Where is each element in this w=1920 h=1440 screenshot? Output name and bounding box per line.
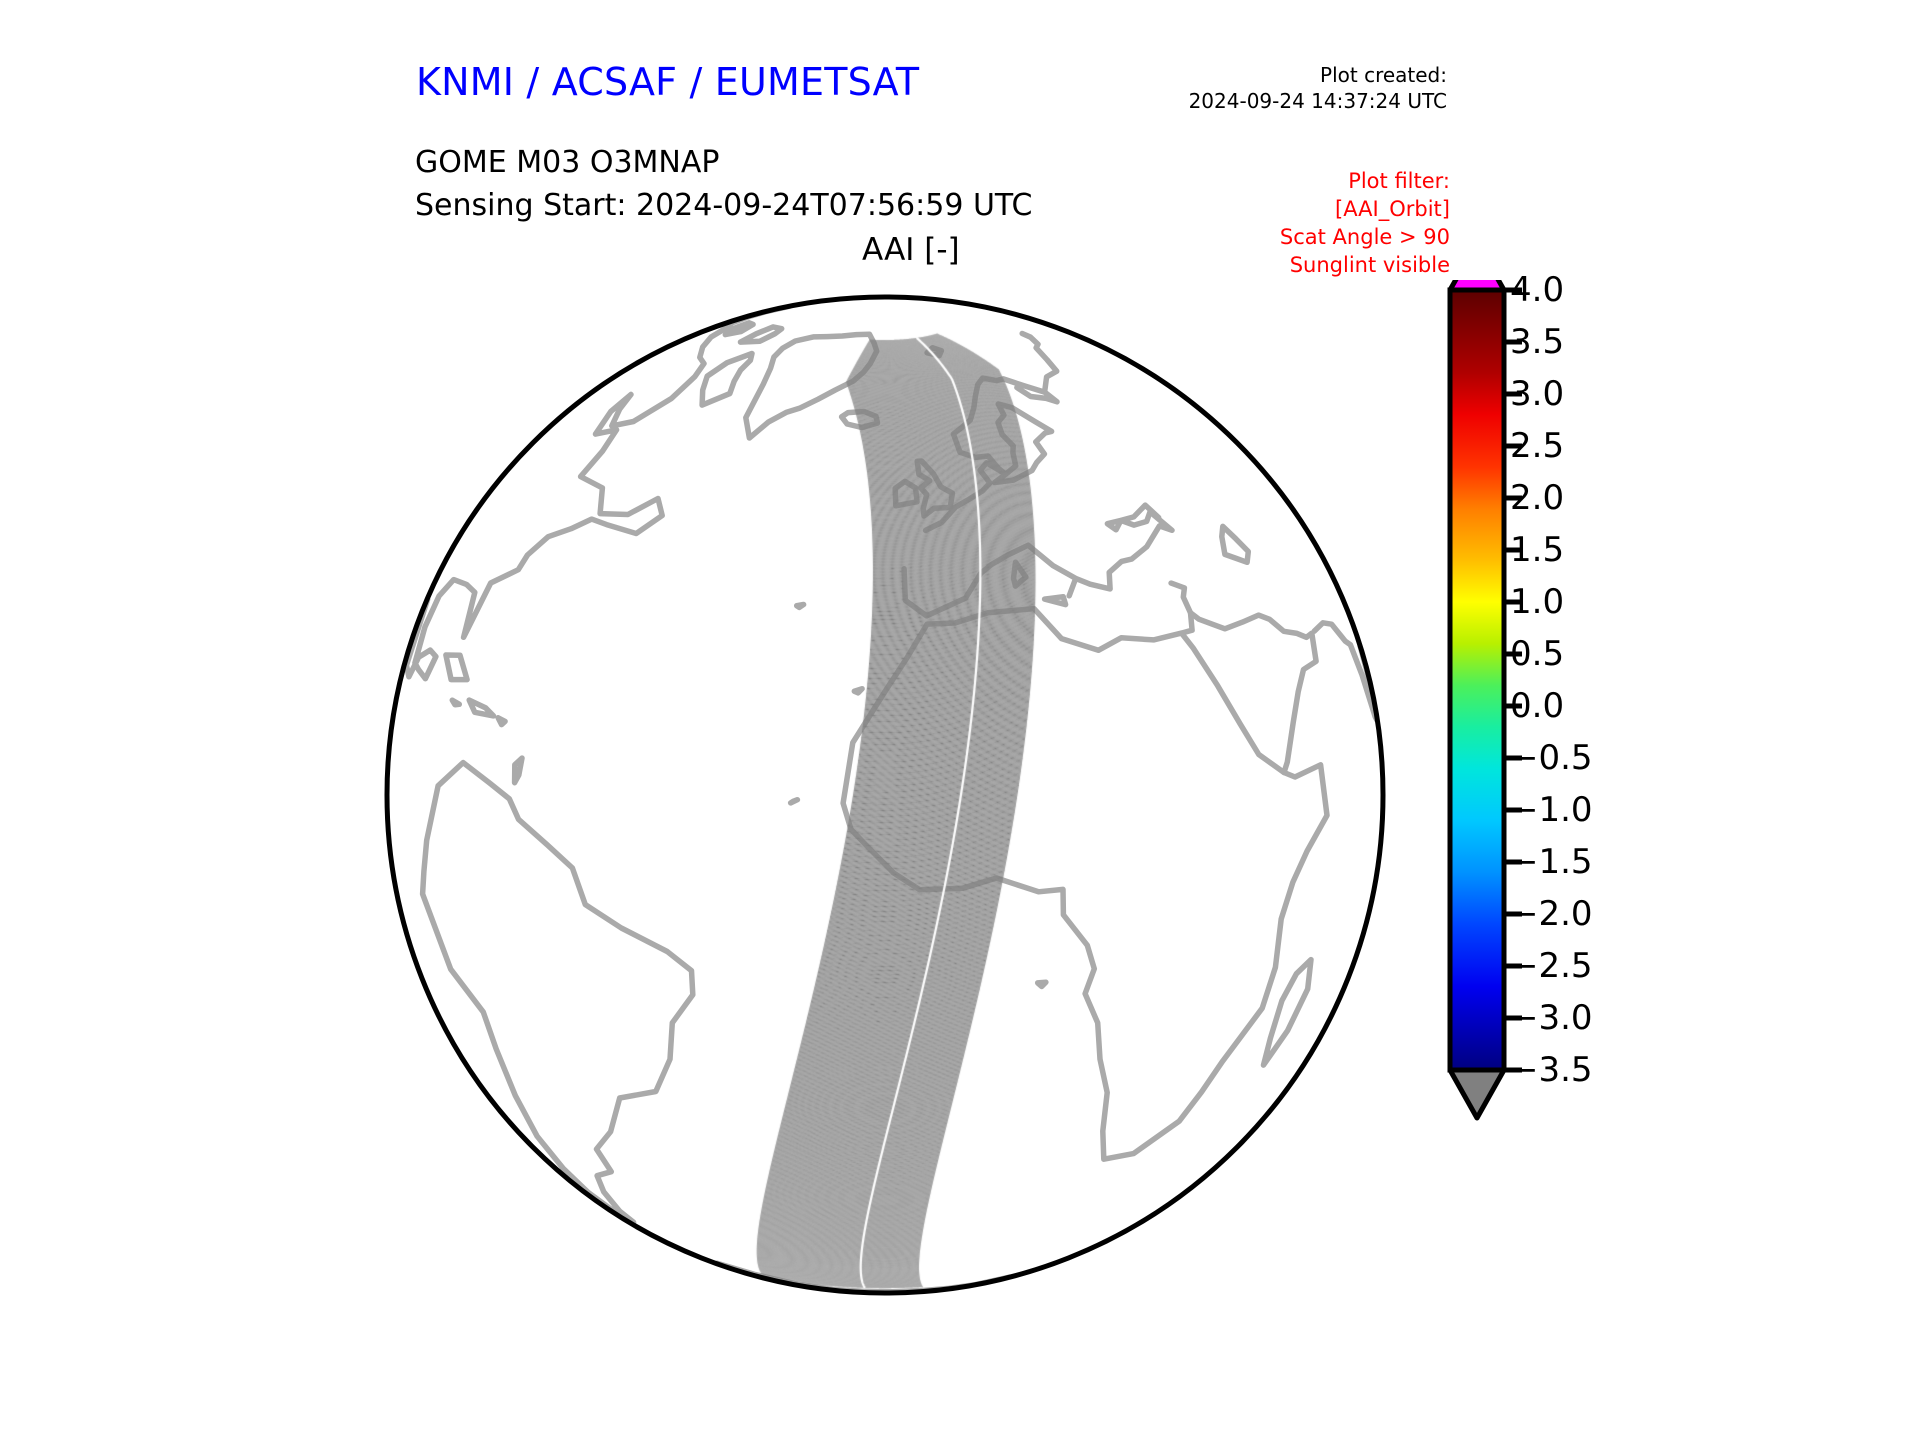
- colorbar-tick-label: −1.5: [1510, 842, 1593, 882]
- colorbar-tick-label: 3.5: [1510, 322, 1564, 362]
- colorbar-tick-label: 0.5: [1510, 634, 1564, 674]
- map-area: [380, 290, 1390, 1300]
- aai-swath-overlay: [380, 290, 1390, 1300]
- colorbar-tick-label: −3.0: [1510, 998, 1593, 1038]
- plot-created-timestamp: 2024-09-24 14:37:24 UTC: [1189, 88, 1447, 114]
- plot-filter-line-1: Scat Angle > 90: [1280, 224, 1450, 252]
- colorbar-area: 4.03.53.02.52.01.51.00.50.0−0.5−1.0−1.5−…: [1438, 280, 1738, 1290]
- colorbar-tick-label: 3.0: [1510, 374, 1564, 414]
- colorbar-under-arrow: [1450, 1070, 1504, 1118]
- plot-created-label: Plot created:: [1189, 62, 1447, 88]
- plot-created-block: Plot created: 2024-09-24 14:37:24 UTC: [1189, 62, 1447, 115]
- colorbar-tick-label: −2.5: [1510, 946, 1593, 986]
- colorbar-tick-label: −2.0: [1510, 894, 1593, 934]
- plot-filter-line-0: [AAI_Orbit]: [1280, 196, 1450, 224]
- sensing-start: Sensing Start: 2024-09-24T07:56:59 UTC: [415, 185, 1032, 228]
- colorbar-tick-label: 2.5: [1510, 426, 1564, 466]
- colorbar-tick-label: −0.5: [1510, 738, 1593, 778]
- product-name: GOME M03 O3MNAP: [415, 142, 1032, 185]
- colorbar-tick-label: −1.0: [1510, 790, 1593, 830]
- colorbar-tick-label: −3.5: [1510, 1050, 1593, 1090]
- colorbar-gradient-bar: [1450, 290, 1504, 1070]
- institute-title: KNMI / ACSAF / EUMETSAT: [416, 60, 919, 104]
- colorbar-tick-label: 0.0: [1510, 686, 1564, 726]
- colorbar-tick-label: 1.5: [1510, 530, 1564, 570]
- colorbar-svg: [1438, 280, 1738, 1290]
- plot-filter-line-2: Sunglint visible: [1280, 252, 1450, 280]
- colorbar-tick-label: 1.0: [1510, 582, 1564, 622]
- product-title-block: GOME M03 O3MNAP Sensing Start: 2024-09-2…: [415, 142, 1032, 227]
- plot-filter-label: Plot filter:: [1280, 168, 1450, 196]
- plot-filter-block: Plot filter: [AAI_Orbit] Scat Angle > 90…: [1280, 168, 1450, 280]
- colorbar-tick-label: 2.0: [1510, 478, 1564, 518]
- colorbar-tick-label: 4.0: [1510, 270, 1564, 310]
- quantity-title: AAI [-]: [862, 232, 960, 268]
